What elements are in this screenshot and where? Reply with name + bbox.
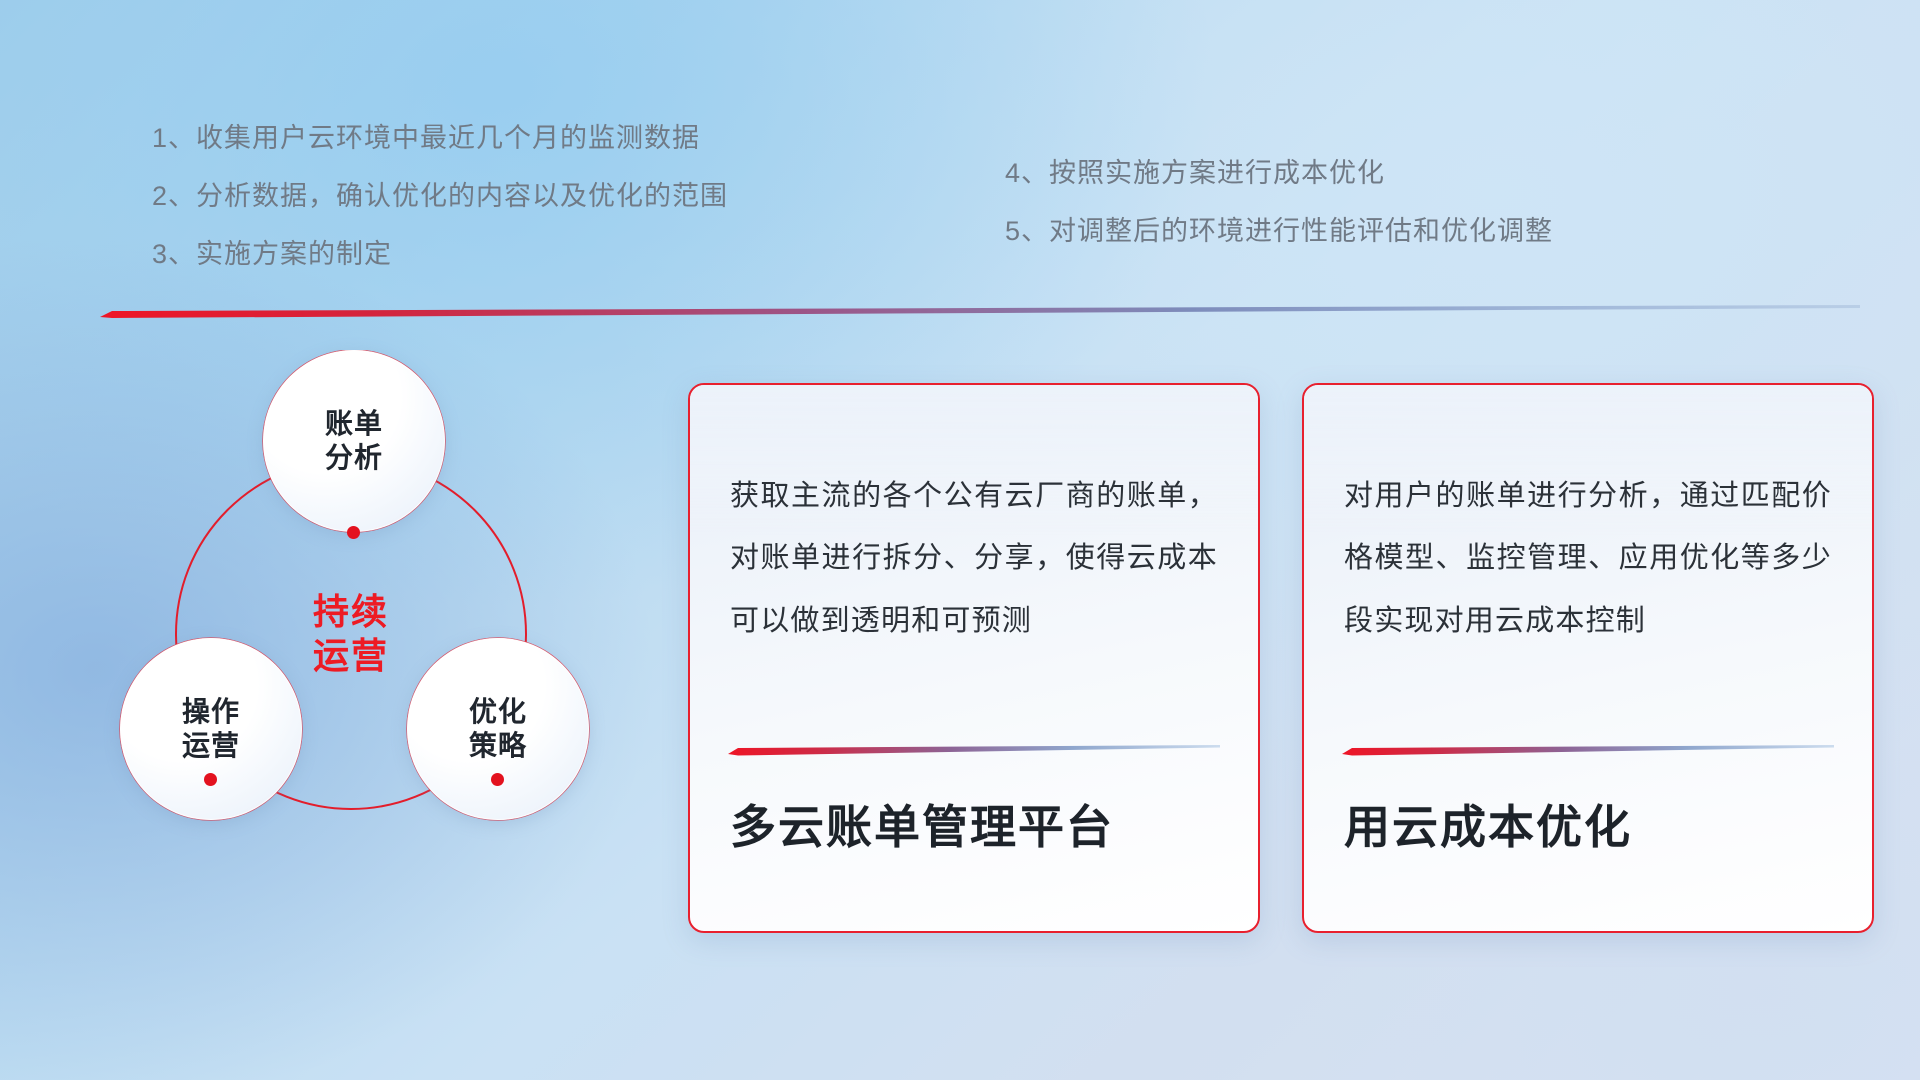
process-steps-right-column: 4、按照实施方案进行成本优化 5、对调整后的环境进行性能评估和优化调整	[1005, 160, 1553, 276]
bubble-optimization-strategy-line-2: 策略	[469, 729, 527, 763]
node-dot-top	[347, 526, 360, 539]
card-body-text: 对用户的账单进行分析，通过匹配价格模型、监控管理、应用优化等多少段实现对用云成本…	[1304, 385, 1872, 652]
card-rule-divider	[728, 745, 1220, 756]
bubble-operation-management-line-2: 运营	[182, 729, 240, 763]
bubble-billing-analysis-line-2: 分析	[325, 441, 383, 475]
card-cloud-cost-optimization[interactable]: 对用户的账单进行分析，通过匹配价格模型、监控管理、应用优化等多少段实现对用云成本…	[1302, 383, 1874, 933]
process-step-5: 5、对调整后的环境进行性能评估和优化调整	[1005, 218, 1553, 245]
process-step-2: 2、分析数据，确认优化的内容以及优化的范围	[152, 183, 728, 210]
bubble-billing-analysis[interactable]: 账单 分析	[263, 350, 445, 532]
node-dot-right	[491, 773, 504, 786]
process-steps-left-column: 1、收集用户云环境中最近几个月的监测数据 2、分析数据，确认优化的内容以及优化的…	[152, 125, 728, 299]
node-dot-left	[204, 773, 217, 786]
process-step-4: 4、按照实施方案进行成本优化	[1005, 160, 1553, 187]
bubble-operation-management-line-1: 操作	[182, 695, 240, 729]
card-title: 用云成本优化	[1344, 791, 1632, 857]
card-title: 多云账单管理平台	[730, 791, 1114, 857]
card-body-text: 获取主流的各个公有云厂商的账单，对账单进行拆分、分享，使得云成本可以做到透明和可…	[690, 385, 1258, 652]
process-step-1: 1、收集用户云环境中最近几个月的监测数据	[152, 125, 728, 152]
bubble-optimization-strategy[interactable]: 优化 策略	[407, 638, 589, 820]
slide-canvas: 1、收集用户云环境中最近几个月的监测数据 2、分析数据，确认优化的内容以及优化的…	[0, 0, 1920, 1080]
bubble-billing-analysis-line-1: 账单	[325, 407, 383, 441]
continuous-operation-diagram: 持续 运营 账单 分析 操作 运营 优化 策略	[95, 350, 655, 950]
section-divider	[100, 305, 1860, 319]
bubble-optimization-strategy-line-1: 优化	[469, 695, 527, 729]
process-step-3: 3、实施方案的制定	[152, 241, 728, 268]
card-multi-cloud-billing-platform[interactable]: 获取主流的各个公有云厂商的账单，对账单进行拆分、分享，使得云成本可以做到透明和可…	[688, 383, 1260, 933]
bubble-operation-management[interactable]: 操作 运营	[120, 638, 302, 820]
card-rule-divider	[1342, 745, 1834, 756]
